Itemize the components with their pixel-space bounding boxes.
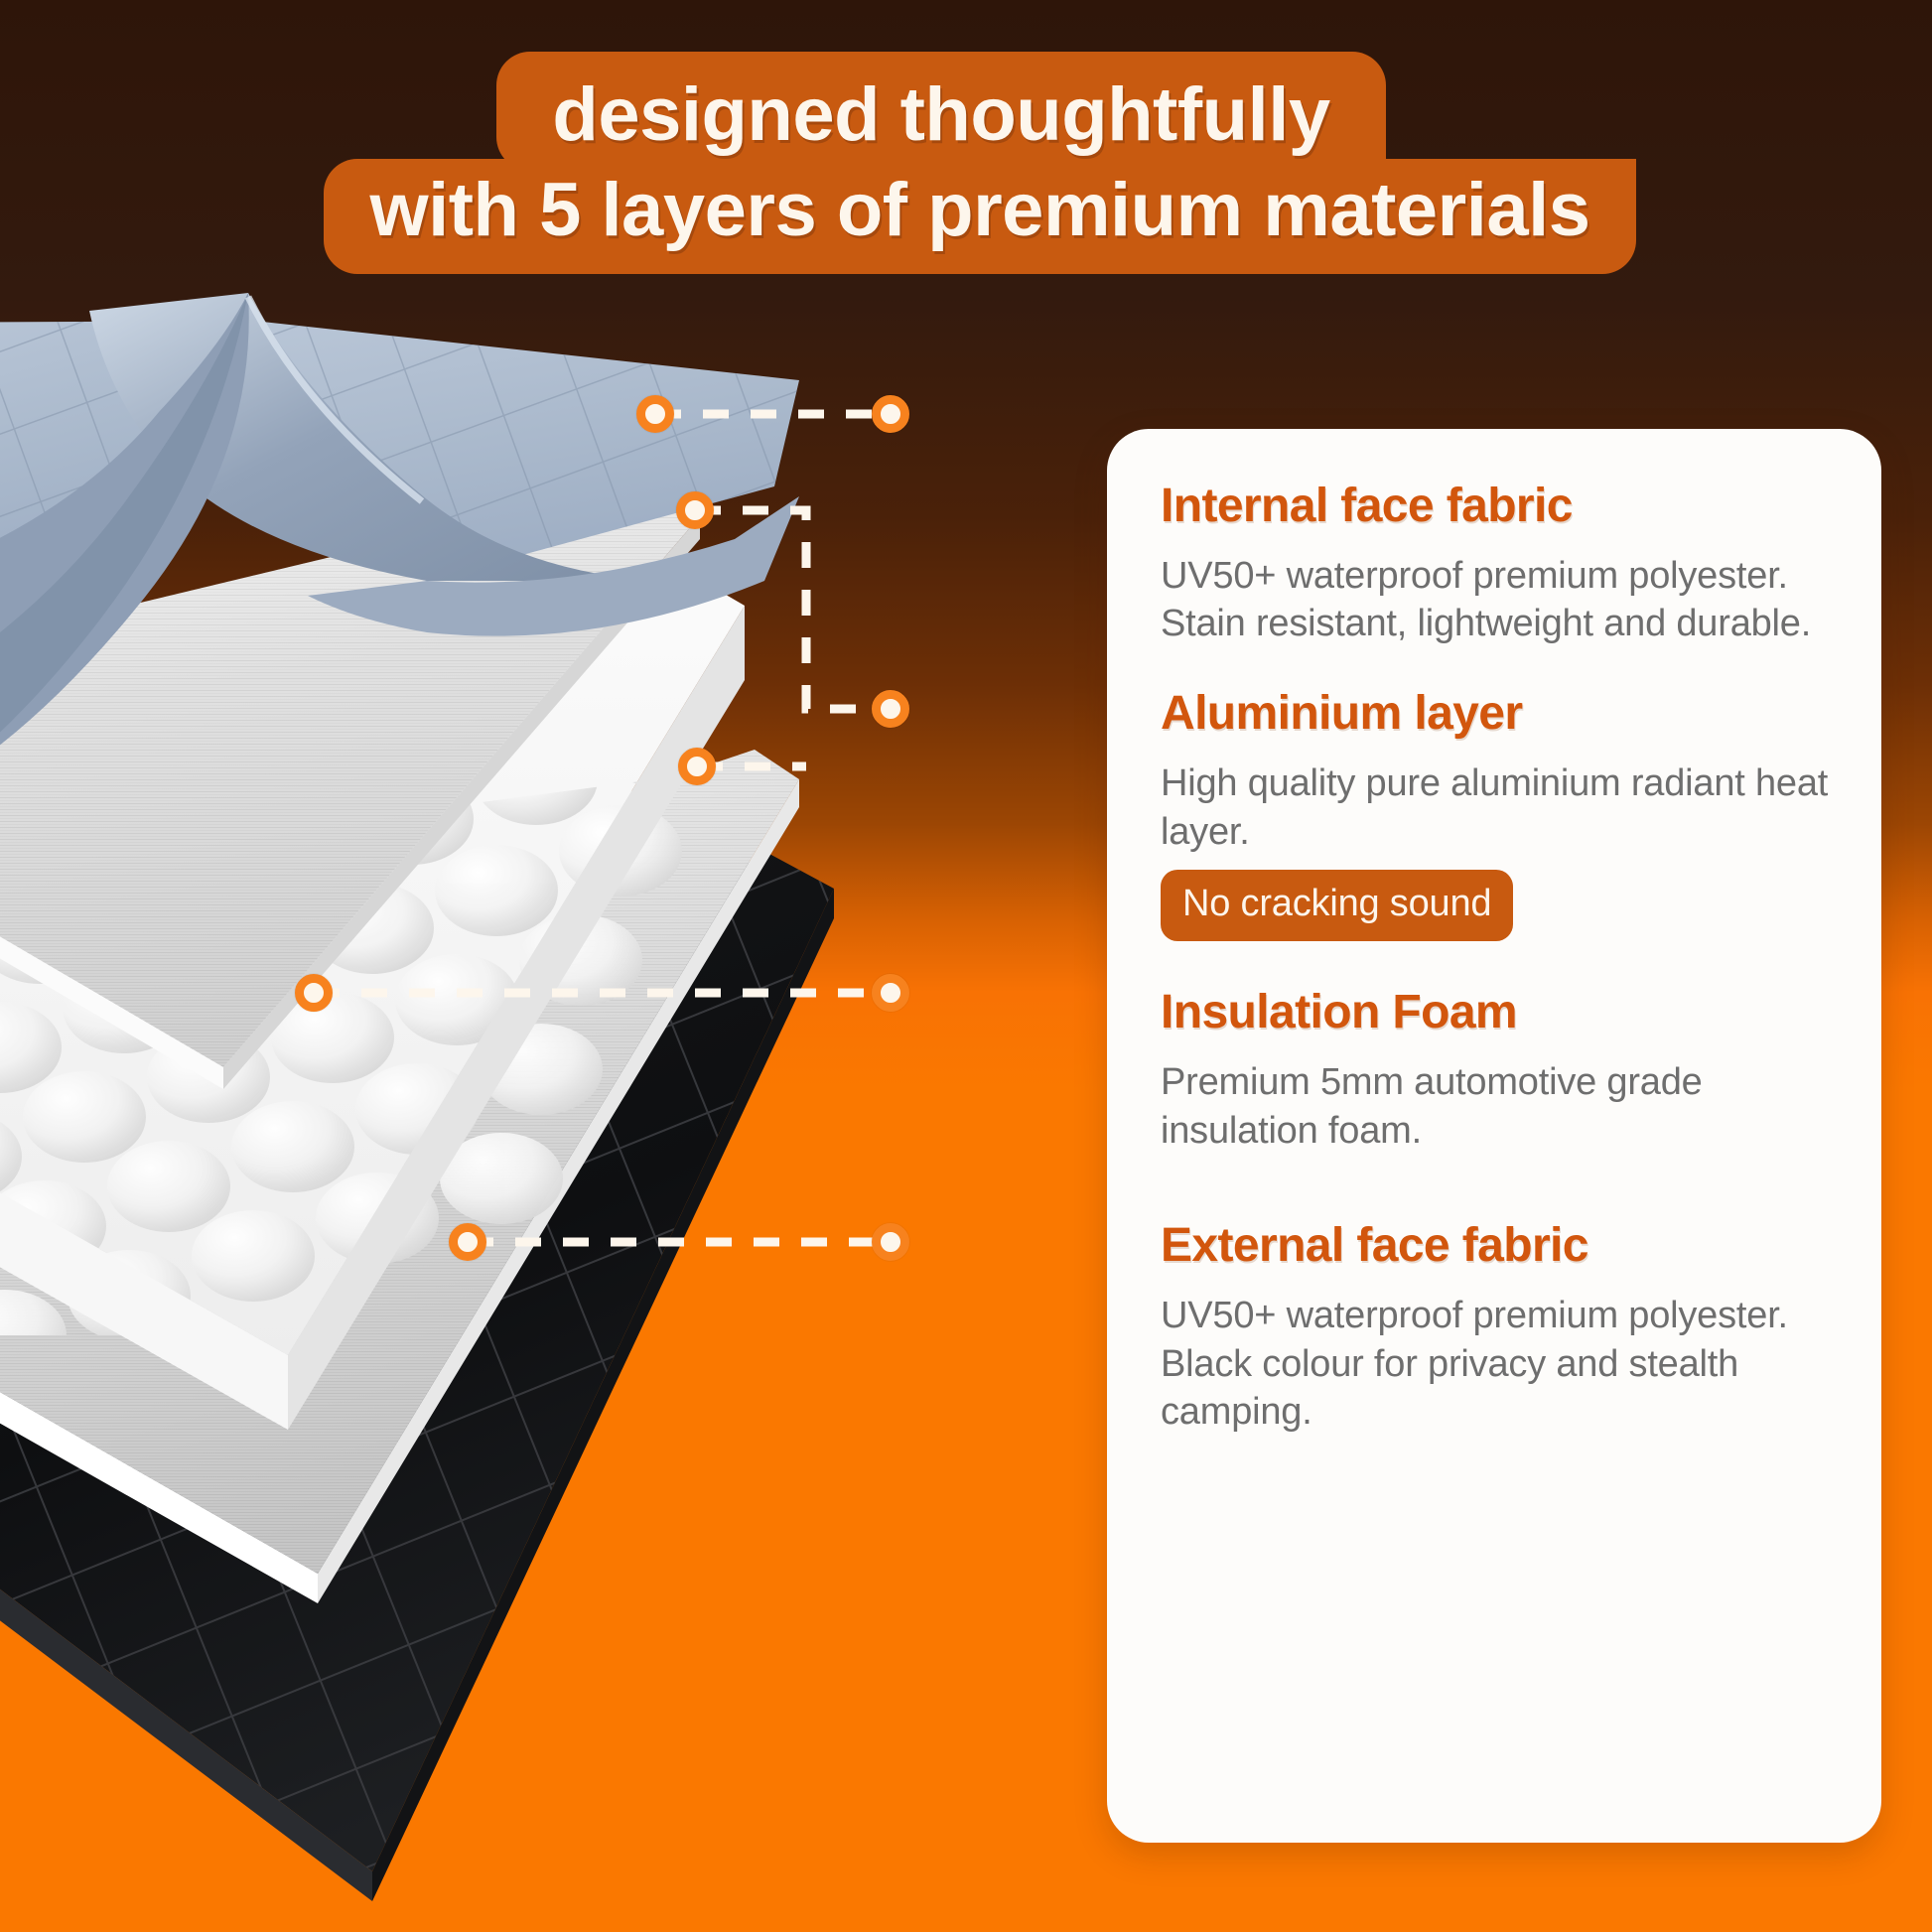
dot-insulation-foam-target	[872, 974, 909, 1012]
section-body-internal-face-fabric: UV50+ waterproof premium polyester. Stai…	[1161, 552, 1838, 648]
section-internal-face-fabric: Internal face fabric UV50+ waterproof pr…	[1161, 481, 1838, 648]
section-body-aluminium-layer: High quality pure aluminium radiant heat…	[1161, 759, 1838, 856]
layers-illustration	[0, 283, 1072, 1932]
section-body-external-face-fabric: UV50+ waterproof premium polyester. Blac…	[1161, 1292, 1838, 1437]
layer-details-card: Internal face fabric UV50+ waterproof pr…	[1107, 429, 1881, 1843]
dot-internal-face-fabric-target	[872, 395, 909, 433]
headline-line-1: designed thoughtfully	[496, 52, 1385, 171]
dot-external-face-fabric-source	[449, 1223, 486, 1261]
dot-aluminium-top-source	[676, 491, 714, 529]
section-body-insulation-foam: Premium 5mm automotive grade insulation …	[1161, 1058, 1838, 1155]
no-cracking-sound-badge: No cracking sound	[1161, 870, 1513, 941]
section-aluminium-layer: Aluminium layer High quality pure alumin…	[1161, 688, 1838, 941]
section-title-internal-face-fabric: Internal face fabric	[1161, 481, 1838, 532]
headline-block: designed thoughtfully with 5 layers of p…	[0, 52, 1932, 274]
dot-aluminium-bottom-source	[678, 748, 716, 785]
section-insulation-foam: Insulation Foam Premium 5mm automotive g…	[1161, 987, 1838, 1155]
section-title-aluminium-layer: Aluminium layer	[1161, 688, 1838, 740]
headline-line-2: with 5 layers of premium materials	[324, 159, 1635, 274]
dot-insulation-foam-source	[295, 974, 333, 1012]
dot-external-face-fabric-target	[872, 1223, 909, 1261]
section-external-face-fabric: External face fabric UV50+ waterproof pr…	[1161, 1220, 1838, 1437]
dot-internal-face-fabric-source	[636, 395, 674, 433]
section-title-external-face-fabric: External face fabric	[1161, 1220, 1838, 1272]
section-title-insulation-foam: Insulation Foam	[1161, 987, 1838, 1038]
dot-aluminium-layer-target	[872, 690, 909, 728]
